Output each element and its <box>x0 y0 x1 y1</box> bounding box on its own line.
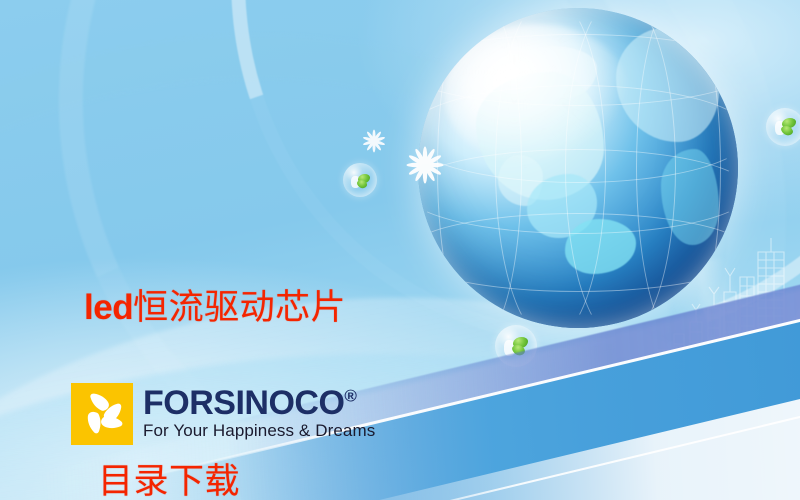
bubble-leaf-lower <box>495 325 537 367</box>
logo-wordmark-text: FORSINOCO <box>143 384 344 422</box>
headline-cjk-text: 恒流驱动芯片 <box>133 288 346 327</box>
company-logo: FORSINOCO® For Your Happiness & Dreams <box>71 383 375 445</box>
pinwheel-flower-icon <box>71 383 133 445</box>
bubble-leaf-right <box>766 108 800 146</box>
globe-rim-light <box>418 8 738 328</box>
logo-tagline: For Your Happiness & Dreams <box>143 421 375 441</box>
headline-latin-prefix: led <box>84 288 133 327</box>
globe-graphic <box>418 8 738 328</box>
logo-mark-square <box>71 383 133 445</box>
bubble-leaf-center <box>343 163 377 197</box>
logo-wordmark: FORSINOCO® <box>143 385 375 421</box>
promo-banner-slide: led恒流驱动芯片 目录下载 FORSINOCO® For Your Happi… <box>0 0 800 500</box>
globe-sphere <box>418 8 738 328</box>
logo-text-block: FORSINOCO® For Your Happiness & Dreams <box>143 383 375 441</box>
headline-text: led恒流驱动芯片 目录下载 <box>84 163 346 500</box>
registered-trademark-icon: ® <box>344 387 357 406</box>
headline-line-1: led恒流驱动芯片 <box>84 279 346 337</box>
headline-line-2: 目录下载 <box>84 453 346 500</box>
